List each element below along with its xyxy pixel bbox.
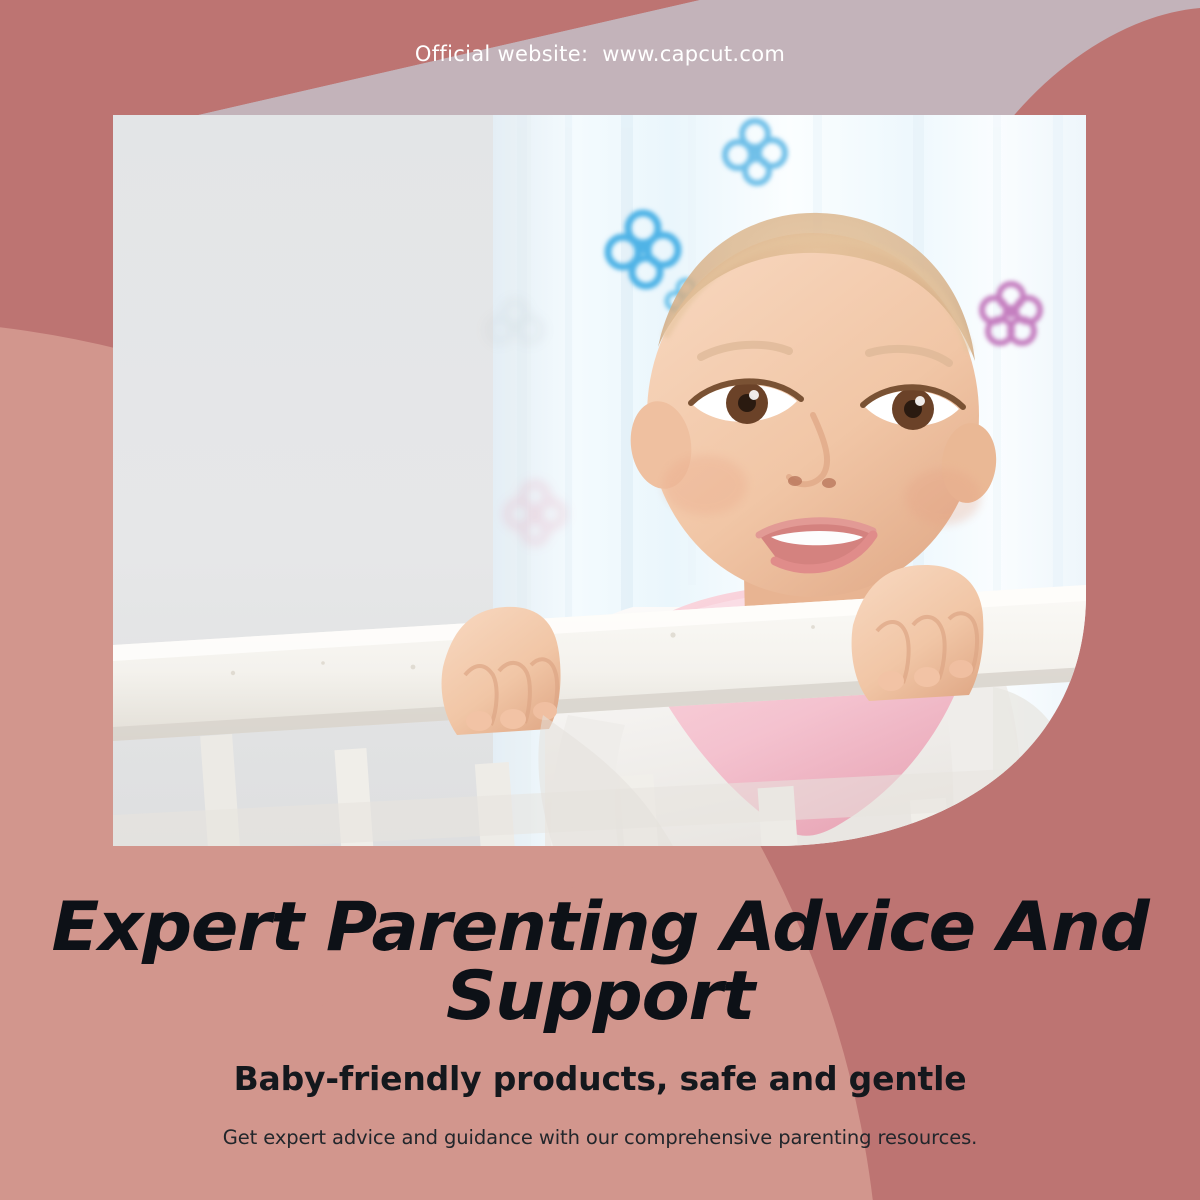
headline-line-2: Support xyxy=(44,962,1156,1031)
page-title: Expert Parenting Advice And Support xyxy=(44,893,1156,1032)
hero-photo xyxy=(113,115,1086,846)
official-website-line: Official website: www.capcut.com xyxy=(0,42,1200,66)
tagline: Get expert advice and guidance with our … xyxy=(60,1126,1140,1149)
headline-line-1: Expert Parenting Advice And xyxy=(44,893,1156,962)
poster-canvas: Official website: www.capcut.com xyxy=(0,0,1200,1200)
crib-sheet xyxy=(993,687,1073,846)
hero-photo-clip xyxy=(113,115,1086,846)
subtitle: Baby-friendly products, safe and gentle xyxy=(60,1059,1140,1098)
baby-crib-illustration xyxy=(113,115,1086,846)
